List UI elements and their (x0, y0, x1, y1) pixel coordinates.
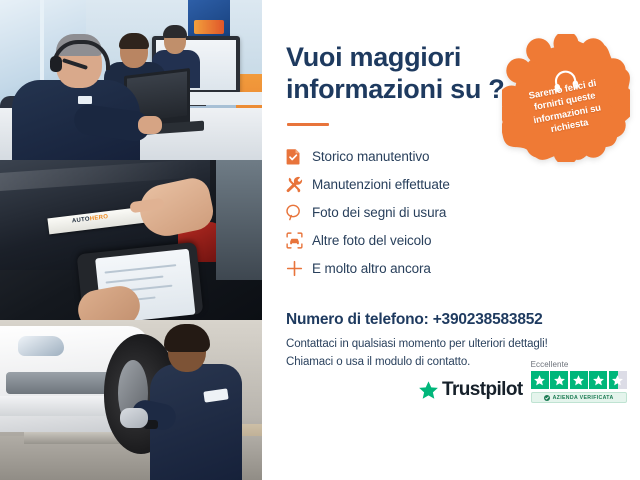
verified-company-label: AZIENDA VERIFICATA (553, 395, 614, 401)
car-grille (6, 372, 110, 394)
star-filled (589, 371, 607, 389)
list-item-label: Altre foto del veicolo (312, 233, 431, 248)
background-person (216, 160, 262, 280)
photo-collage: AUTOHERO (0, 0, 262, 480)
title-underline-divider (287, 123, 329, 126)
contact-description-line-1: Contattaci in qualsiasi momento per ulte… (286, 338, 548, 350)
list-item: E molto altro ancora (286, 255, 640, 283)
vehicle-inspection-photo: AUTOHERO (0, 160, 262, 320)
tablet-text-line (106, 276, 164, 284)
list-item-label: Storico manutentivo (312, 149, 429, 164)
mechanic-glove (120, 408, 148, 428)
list-item-label: E molto altro ancora (312, 261, 431, 276)
support-promise-badge: Saremo felici di fornirti queste informa… (502, 34, 630, 162)
star-filled (570, 371, 588, 389)
mechanic-tire-check-photo (0, 320, 262, 480)
call-center-agents-photo (0, 0, 262, 160)
trustpilot-wordmark: Trustpilot (442, 379, 523, 401)
star-filled (531, 371, 549, 389)
agent-one-hand (138, 116, 162, 134)
badge-text: Saremo felici di fornirti queste informa… (498, 71, 633, 144)
heading-line-2: informazioni su ? (286, 74, 504, 104)
wall-poster (188, 0, 230, 38)
ruler-brand-hero: HERO (90, 214, 109, 222)
wrench-screwdriver-icon (286, 176, 312, 193)
list-item-label: Foto dei segni di usura (312, 205, 446, 220)
trustpilot-rating-label: Eccellente (531, 360, 569, 369)
trustpilot-logo: Trustpilot (418, 379, 523, 403)
badge-content: Saremo felici di fornirti queste informa… (502, 34, 630, 162)
list-item-label: Manutenzioni effettuate (312, 177, 450, 192)
page-title: Vuoi maggiori informazioni su ? (286, 42, 516, 106)
list-item: Altre foto del veicolo (286, 227, 640, 255)
trustpilot-stars (531, 371, 627, 389)
list-item: Foto dei segni di usura (286, 199, 640, 227)
magnifier-icon (286, 204, 312, 221)
agent-one-name-badge (78, 96, 92, 104)
mechanic-hair (164, 324, 210, 352)
verified-company-badge: AZIENDA VERIFICATA (531, 392, 627, 403)
feature-list: Storico manutentivo Manutenzioni effettu… (286, 143, 640, 283)
agent-three-hair (163, 25, 187, 38)
ruler-brand-auto: AUTO (72, 216, 91, 224)
tablet-text-line (105, 264, 177, 274)
phone-number-line[interactable]: Numero di telefono: +390238583852 (286, 311, 640, 329)
promo-banner: AUTOHERO (0, 0, 640, 480)
trustpilot-star-icon (418, 380, 439, 401)
ruler-brand-label: AUTOHERO (72, 214, 109, 224)
list-item: Manutenzioni effettuate (286, 171, 640, 199)
agent-two-hair (119, 33, 149, 49)
car-headlight (18, 336, 64, 356)
car-scan-frame-icon (286, 232, 312, 249)
star-half (609, 371, 627, 389)
heading-line-1: Vuoi maggiori (286, 42, 461, 72)
trustpilot-score-block: Eccellente (531, 360, 627, 403)
agent-one-earcup (50, 56, 62, 72)
plus-icon (286, 260, 312, 277)
document-check-icon (286, 148, 312, 165)
verified-check-icon (544, 395, 550, 401)
star-filled (550, 371, 568, 389)
trustpilot-rating[interactable]: Trustpilot Eccellente (418, 360, 627, 403)
